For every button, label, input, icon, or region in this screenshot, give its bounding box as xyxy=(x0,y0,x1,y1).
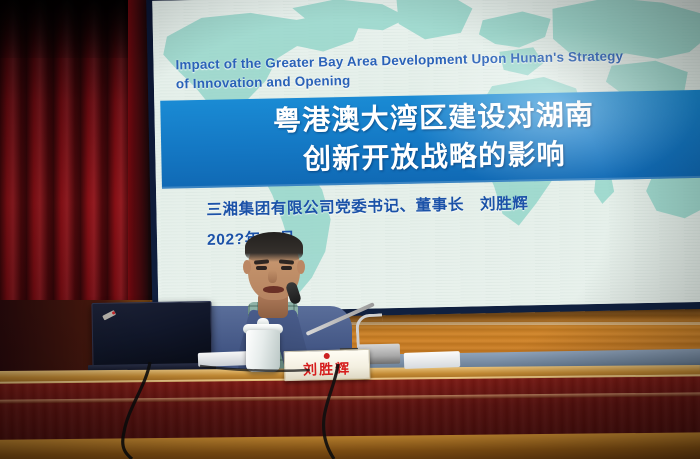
speaker-nose xyxy=(268,270,277,283)
speaker-eye-right xyxy=(281,266,292,270)
speaker-eye-left xyxy=(256,266,267,270)
curtain-top-shadow xyxy=(0,0,148,58)
slide-chinese-title: 粤港澳大湾区建设对湖南 创新开放战略的影响 xyxy=(160,94,700,182)
speaker-ear-right xyxy=(297,260,305,274)
speaker-ear-left xyxy=(243,260,251,274)
speaker-mouth xyxy=(263,286,284,293)
desk-cables xyxy=(0,360,700,459)
photo-scene: Impact of the Greater Bay Area Developme… xyxy=(0,0,700,459)
slide-surface: Impact of the Greater Bay Area Developme… xyxy=(152,0,700,313)
slide-title-band: 粤港澳大湾区建设对湖南 创新开放战略的影响 xyxy=(160,90,700,189)
laptop-logo-icon xyxy=(102,310,116,320)
projection-screen: Impact of the Greater Bay Area Developme… xyxy=(146,0,700,320)
speaker-hair xyxy=(245,232,303,262)
